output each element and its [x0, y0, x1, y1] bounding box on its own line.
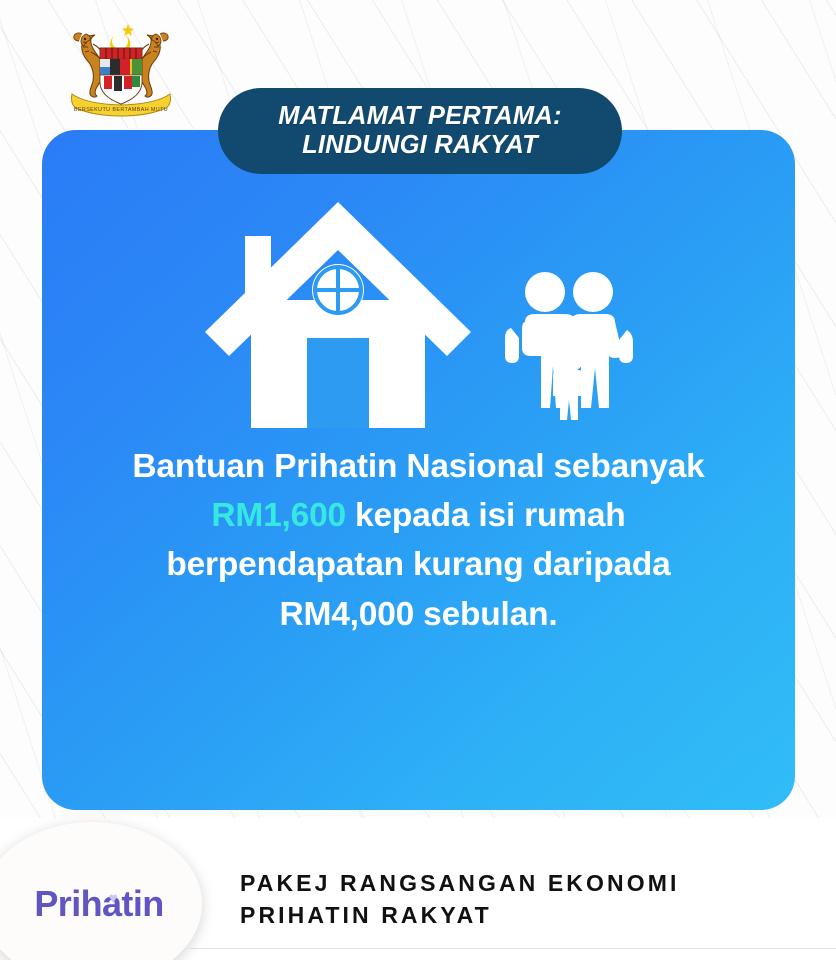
body-line-2: RM1,600 kepada isi rumah: [76, 491, 761, 540]
infographic-page: BERSEKUTU BERTAMBAH MUTU: [0, 0, 836, 960]
amount-value: RM1,600: [211, 497, 346, 534]
footer-title: PAKEJ RANGSANGAN EKONOMI PRIHATIN RAKYAT: [240, 868, 679, 931]
family-icon: [501, 270, 639, 420]
footer: Prihatin ♥ PAKEJ RANGSANGAN EKONOMI PRIH…: [0, 818, 836, 960]
header-badge: MATLAMAT PERTAMA: LINDUNGI RAKYAT: [218, 88, 622, 174]
header-badge-line-1: MATLAMAT PERTAMA:: [278, 102, 561, 131]
svg-text:BERSEKUTU BERTAMBAH MUTU: BERSEKUTU BERTAMBAH MUTU: [74, 107, 168, 113]
main-content-card: Bantuan Prihatin Nasional sebanyak RM1,6…: [42, 130, 795, 810]
header-badge-line-2: LINDUNGI RAKYAT: [302, 131, 538, 160]
prihatin-wordmark-text: Prihatin: [34, 883, 163, 924]
footer-title-line-2: PRIHATIN RAKYAT: [240, 900, 679, 932]
body-line-4: RM4,000 sebulan.: [76, 590, 761, 639]
body-line-1: Bantuan Prihatin Nasional sebanyak: [76, 442, 761, 491]
body-line-2-rest: kepada isi rumah: [346, 497, 626, 534]
footer-divider: [190, 948, 836, 949]
icon-row: [42, 192, 795, 432]
house-icon: [199, 196, 477, 432]
body-line-3: berpendapatan kurang daripada: [76, 540, 761, 589]
shield: [100, 48, 142, 104]
body-copy: Bantuan Prihatin Nasional sebanyak RM1,6…: [76, 442, 761, 639]
prihatin-logo-badge: Prihatin ♥: [0, 822, 202, 960]
heart-icon: ♥: [109, 891, 122, 903]
footer-title-line-1: PAKEJ RANGSANGAN EKONOMI: [240, 868, 679, 900]
malaysia-coat-of-arms-emblem: BERSEKUTU BERTAMBAH MUTU: [58, 14, 184, 120]
tiger-right: [138, 33, 168, 97]
tiger-left: [74, 33, 104, 97]
prihatin-wordmark: Prihatin ♥: [34, 883, 163, 925]
